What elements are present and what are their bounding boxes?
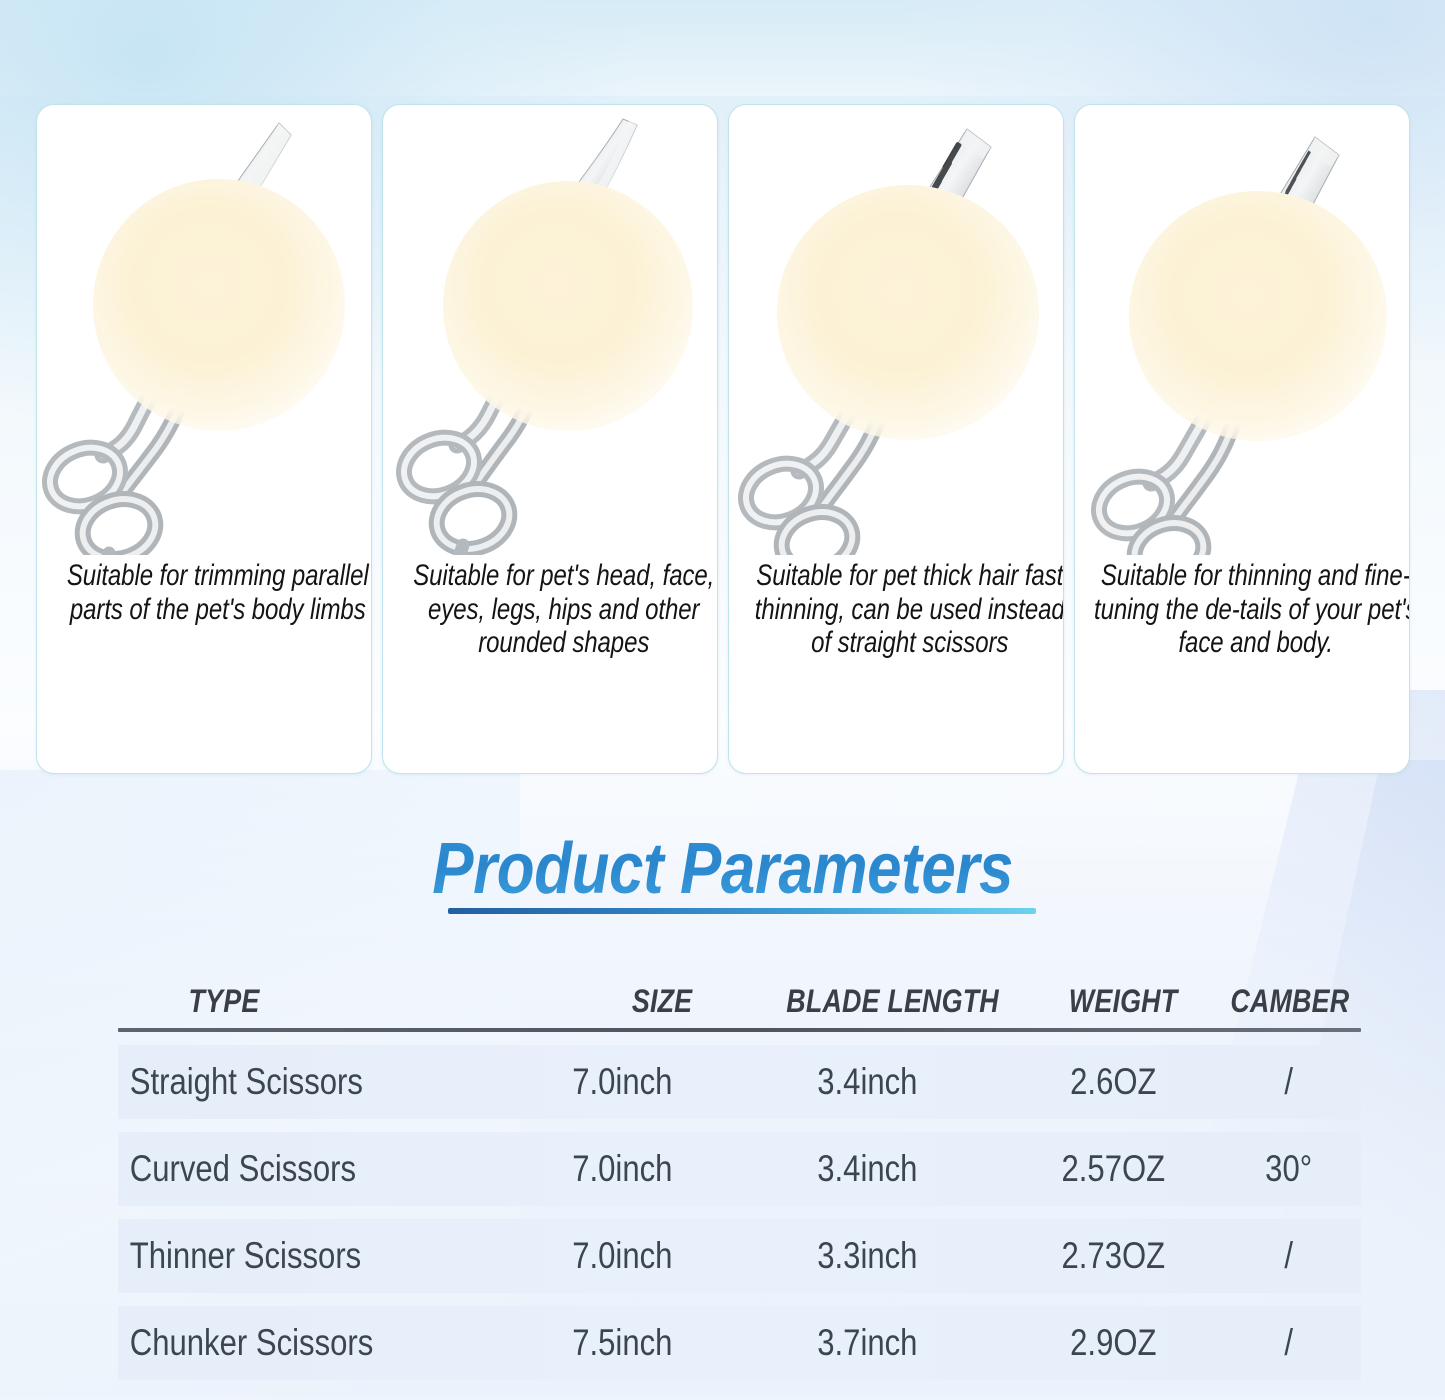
cell-size: 7.5inch <box>536 1322 708 1364</box>
cell-camber: / <box>1227 1061 1349 1103</box>
cell-blade-length: 3.4inch <box>747 1061 988 1103</box>
table-row: Thinner Scissors 7.0inch 3.3inch 2.73OZ … <box>118 1219 1361 1293</box>
cell-blade-length: 3.4inch <box>747 1148 988 1190</box>
table-row: Curved Scissors 7.0inch 3.4inch 2.57OZ 3… <box>118 1132 1361 1206</box>
cell-camber: / <box>1227 1235 1349 1277</box>
straight-scissors-art <box>37 105 371 555</box>
table-header-row: TYPE SIZE BLADE LENGTH WEIGHT CAMBER <box>118 958 1361 1020</box>
cell-weight: 2.57OZ <box>1027 1148 1199 1190</box>
cell-weight: 2.73OZ <box>1027 1235 1199 1277</box>
feature-card-chunker: Suitable for pet thick hair fast thinnin… <box>728 104 1064 774</box>
feature-caption: Suitable for pet thick hair fast thinnin… <box>732 555 1064 773</box>
feature-card-straight: Suitable for trimming parallel parts of … <box>36 104 372 774</box>
feature-card-row: Suitable for trimming parallel parts of … <box>36 104 1410 774</box>
title-underline <box>448 908 1036 914</box>
feature-caption: Suitable for thinning and fine-tuning th… <box>1078 555 1410 773</box>
feature-caption: Suitable for pet's head, face, eyes, leg… <box>386 555 718 773</box>
cell-weight: 2.9OZ <box>1027 1322 1199 1364</box>
cell-type: Thinner Scissors <box>118 1235 455 1277</box>
cell-size: 7.0inch <box>536 1148 708 1190</box>
glow-circle <box>93 179 345 431</box>
table-header-weight: WEIGHT <box>1043 983 1204 1020</box>
cell-weight: 2.6OZ <box>1027 1061 1199 1103</box>
table-header-camber: CAMBER <box>1231 983 1350 1020</box>
table-header-type: TYPE <box>118 983 494 1020</box>
page-title: Product Parameters <box>429 833 1017 905</box>
feature-caption: Suitable for trimming parallel parts of … <box>40 555 372 773</box>
product-parameters-table: TYPE SIZE BLADE LENGTH WEIGHT CAMBER Str… <box>118 958 1361 1380</box>
chunker-scissors-art <box>729 105 1063 555</box>
cell-size: 7.0inch <box>536 1235 708 1277</box>
table-header-blade-length: BLADE LENGTH <box>780 983 1006 1020</box>
cell-blade-length: 3.7inch <box>747 1322 988 1364</box>
table-row: Straight Scissors 7.0inch 3.4inch 2.6OZ … <box>118 1045 1361 1119</box>
cell-type: Straight Scissors <box>118 1061 455 1103</box>
cell-blade-length: 3.3inch <box>747 1235 988 1277</box>
glow-circle <box>443 181 693 431</box>
glow-circle <box>777 185 1039 440</box>
glow-circle <box>1129 191 1387 441</box>
curved-scissors-art <box>383 105 717 555</box>
section-title-wrap: Product Parameters <box>0 833 1445 905</box>
table-row: Chunker Scissors 7.5inch 3.7inch 2.9OZ / <box>118 1306 1361 1380</box>
table-header-size: SIZE <box>581 983 742 1020</box>
cell-camber: 30° <box>1227 1148 1349 1190</box>
cell-type: Chunker Scissors <box>118 1322 455 1364</box>
cell-camber: / <box>1227 1322 1349 1364</box>
feature-card-thinner: Suitable for thinning and fine-tuning th… <box>1074 104 1410 774</box>
feature-card-curved: Suitable for pet's head, face, eyes, leg… <box>382 104 718 774</box>
table-header-divider <box>118 1028 1361 1032</box>
cell-size: 7.0inch <box>536 1061 708 1103</box>
cell-type: Curved Scissors <box>118 1148 455 1190</box>
thinner-scissors-art <box>1075 105 1409 555</box>
